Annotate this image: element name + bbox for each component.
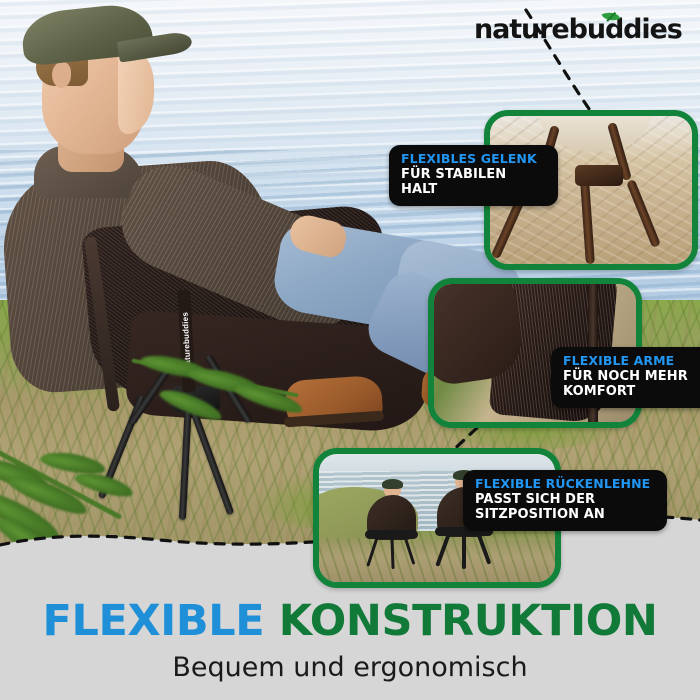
badge-arms-line-1: FÜR NOCH MEHR xyxy=(563,369,699,385)
badge-backrest: FLEXIBLE RÜCKENLEHNE PASST SICH DER SITZ… xyxy=(463,470,667,531)
headline-word-green: KONSTRUKTION xyxy=(279,596,658,646)
headline-block: FLEXIBLE KONSTRUKTION Bequem und ergonom… xyxy=(0,600,700,683)
badge-joint-title: FLEXIBLES GELENK xyxy=(401,152,546,167)
brand-logo: naturebuddies xyxy=(474,14,682,45)
badge-backrest-title: FLEXIBLE RÜCKENLEHNE xyxy=(475,477,655,492)
person-ear xyxy=(52,62,71,88)
badge-joint: FLEXIBLES GELENK FÜR STABILEN HALT xyxy=(389,145,558,206)
seated-person-left xyxy=(361,477,427,569)
headline-subtitle: Bequem und ergonomisch xyxy=(0,652,700,683)
badge-backrest-line-2: SITZPOSITION AN xyxy=(475,507,655,523)
flexible-joint-hub xyxy=(575,165,623,186)
badge-backrest-line-1: PASST SICH DER xyxy=(475,492,655,508)
brand-logo-text: naturebuddies xyxy=(474,14,682,45)
badge-arms: FLEXIBLE ARME FÜR NOCH MEHR KOMFORT xyxy=(551,347,700,408)
fern-foliage xyxy=(130,356,330,486)
badge-joint-line-1: FÜR STABILEN HALT xyxy=(401,167,546,198)
badge-arms-line-2: KOMFORT xyxy=(563,384,699,400)
product-infographic: naturebuddies xyxy=(0,0,700,700)
badge-arms-title: FLEXIBLE ARME xyxy=(563,354,699,369)
headline-main: FLEXIBLE KONSTRUKTION xyxy=(0,600,700,643)
headline-word-blue: FLEXIBLE xyxy=(43,596,265,646)
